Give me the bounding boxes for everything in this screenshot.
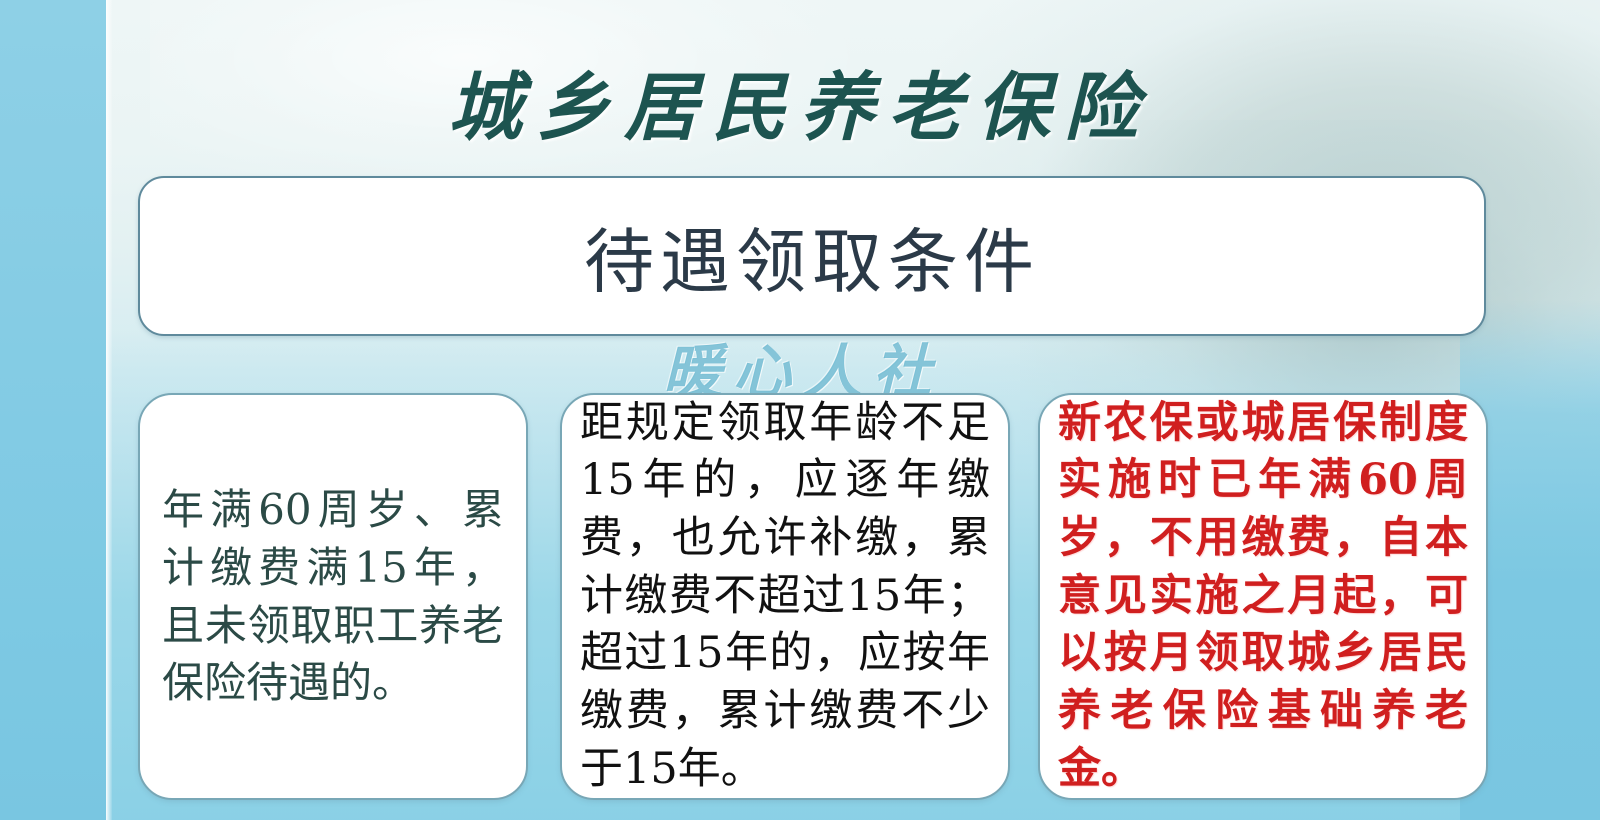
condition-card-1-body: 年满60周岁、累计缴费满15年，且未领取职工养老保险待遇的。 — [140, 395, 526, 798]
poster-title: 城乡居民养老保险 — [0, 48, 1600, 155]
condition-cards-row: 年满60周岁、累计缴费满15年，且未领取职工养老保险待遇的。 距规定领取年龄不足… — [0, 393, 1600, 803]
condition-card-3: 新农保或城居保制度实施时已年满60周岁，不用缴费，自本意见实施之月起，可以按月领… — [1038, 393, 1488, 800]
heading-card: 待遇领取条件 — [138, 176, 1486, 336]
heading-title: 待遇领取条件 — [584, 206, 1040, 307]
condition-card-3-text: 新农保或城居保制度实施时已年满60周岁，不用缴费，自本意见实施之月起，可以按月领… — [1058, 395, 1468, 798]
condition-card-2-text: 距规定领取年龄不足15年的，应逐年缴费，也允许补缴，累计缴费不超过15年；超过1… — [580, 395, 990, 798]
condition-card-2: 距规定领取年龄不足15年的，应逐年缴费，也允许补缴，累计缴费不超过15年；超过1… — [560, 393, 1010, 800]
condition-card-1-text: 年满60周岁、累计缴费满15年，且未领取职工养老保险待遇的。 — [162, 481, 504, 713]
condition-card-1: 年满60周岁、累计缴费满15年，且未领取职工养老保险待遇的。 — [138, 393, 528, 800]
condition-card-2-body: 距规定领取年龄不足15年的，应逐年缴费，也允许补缴，累计缴费不超过15年；超过1… — [562, 395, 1008, 798]
condition-card-3-body: 新农保或城居保制度实施时已年满60周岁，不用缴费，自本意见实施之月起，可以按月领… — [1040, 395, 1486, 798]
poster-root: 城乡居民养老保险 待遇领取条件 暖心人社 年满60周岁、累计缴费满15年，且未领… — [0, 0, 1600, 820]
